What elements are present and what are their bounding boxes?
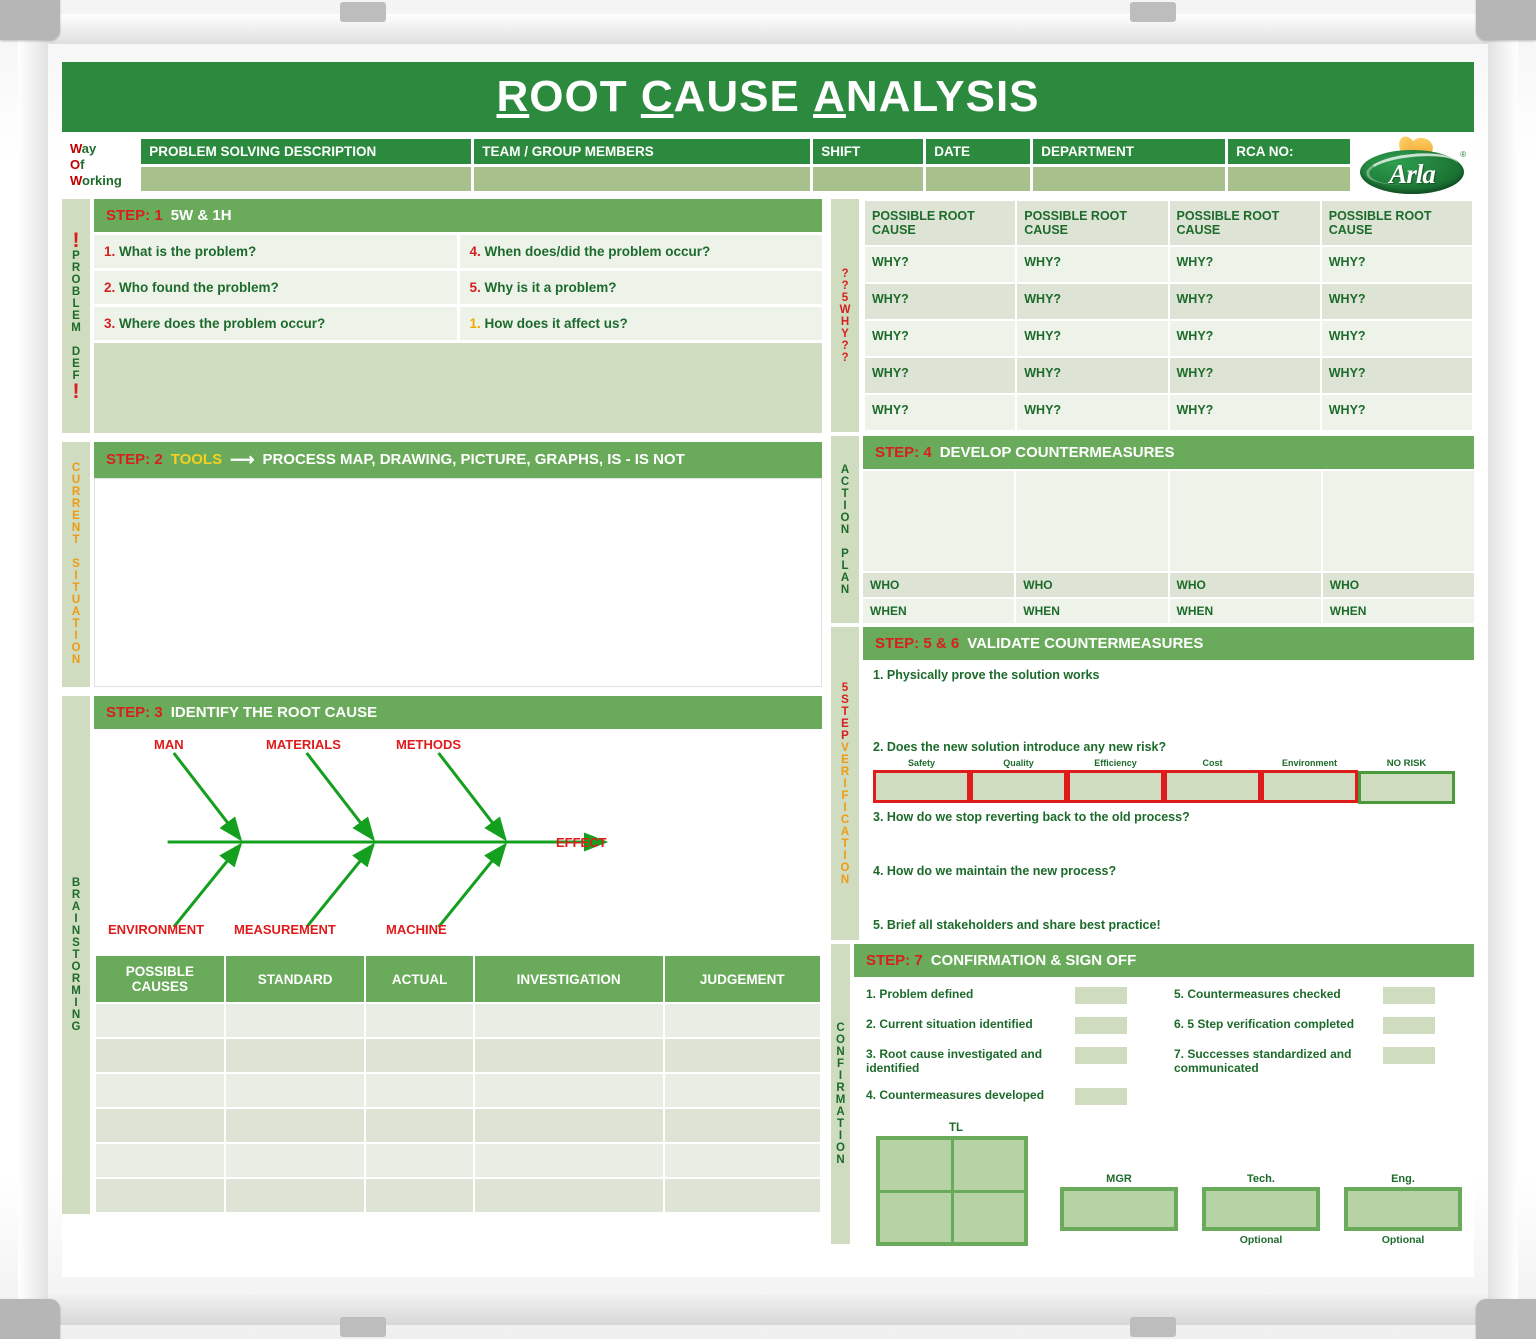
risk-option-quality[interactable]: Quality [970,758,1067,804]
checklist-item: 3. Root cause investigated and identifie… [866,1047,1154,1075]
column-header: POSSIBLECAUSES [96,956,224,1002]
tl-cell-1[interactable] [880,1140,951,1190]
column-header: INVESTIGATION [475,956,663,1002]
wow-ay: ay [82,141,96,156]
vtab-char: I [843,850,846,862]
frame-rail-left [18,14,48,1325]
table-cell[interactable] [96,1109,224,1142]
step4-title: DEVELOP COUNTERMEASURES [940,444,1175,461]
sidebar-problem-def: ! PROBLEM DEF ! [62,199,90,433]
question-cell[interactable]: 4. When does/did the problem occur? [460,235,823,268]
vtab-char: M [71,985,81,997]
table-body [96,1004,820,1212]
vtab-char: ? [841,340,848,352]
column-header: POSSIBLE ROOT CAUSE [1322,201,1472,245]
table-cell[interactable] [226,1004,365,1037]
table-cell[interactable] [226,1039,365,1072]
checklist-checkbox[interactable] [1383,1017,1435,1034]
table-cell[interactable] [475,1004,663,1037]
step3-header: STEP: 3 IDENTIFY THE ROOT CAUSE [94,696,822,729]
question-row: 2. Who found the problem?5. Why is it a … [94,271,822,304]
frame-corner-bottom-right [1476,1299,1536,1339]
vtab-char: N [72,654,80,666]
header-field-2: SHIFT [813,139,923,191]
validation-q2: 2. Does the new solution introduce any n… [873,740,1464,754]
checklist-column-left: 1. Problem defined2. Current situation i… [866,987,1154,1118]
step56-title: VALIDATE COUNTERMEASURES [967,635,1203,652]
vtab-char: E [72,310,80,322]
wow-w1: W [70,141,82,156]
tl-cell-4[interactable] [954,1193,1025,1243]
table-cell[interactable] [475,1179,663,1212]
header-field-0: PROBLEM SOLVING DESCRIPTION [141,139,471,191]
column-header: STANDARD [226,956,365,1002]
countermeasure-input[interactable] [863,471,1014,571]
why-cell[interactable]: WHY? [1322,247,1472,282]
why-cell[interactable]: WHY? [1170,321,1320,356]
risk-label: NO RISK [1358,758,1455,769]
table-row: WHY?WHY?WHY?WHY? [865,321,1472,356]
vtab-char: E [72,510,80,522]
signoff-tl-grid[interactable] [876,1136,1028,1246]
fishbone-label-man: MAN [154,737,184,752]
table-cell[interactable] [96,1004,224,1037]
vtab-char: T [841,838,848,850]
step3-body: STEP: 3 IDENTIFY THE ROOT CAUSE [94,696,822,1214]
step56-number: STEP: 5 & 6 [875,635,959,652]
risk-option-efficiency[interactable]: Efficiency [1067,758,1164,804]
signoff-box-mgr: MGRx [1060,1173,1178,1246]
step2-body: STEP: 2 TOOLS ⟶ PROCESS MAP, DRAWING, PI… [94,442,822,687]
vtab-char: ? [841,280,848,292]
step2-section: CURRENT SITUATION STEP: 2 TOOLS ⟶ PROCES… [62,442,822,687]
vtab-char: M [71,322,81,334]
table-header-row: POSSIBLE ROOT CAUSEPOSSIBLE ROOT CAUSEPO… [865,201,1472,245]
vtab-char: ? [841,268,848,280]
when-field[interactable]: WHEN [1016,599,1167,623]
vtab-char: A [841,572,849,584]
vtab-char: O [836,1034,845,1046]
checklist-label: 1. Problem defined [866,987,1071,1001]
tl-cell-2[interactable] [954,1140,1025,1190]
brand-logo: Arla ® [1350,139,1474,191]
vtab-char: A [72,606,80,618]
step1-title: 5W & 1H [171,207,232,224]
right-column: ??5WHY?? POSSIBLE ROOT CAUSEPOSSIBLE ROO… [831,199,1474,1214]
risk-checkbox-row: SafetyQualityEfficiencyCostEnvironmentNO… [873,758,1464,804]
table-cell[interactable] [96,1144,224,1177]
vtab-char: F [837,1058,844,1070]
question-cell[interactable]: 2. Who found the problem? [94,271,457,304]
table-cell[interactable] [475,1109,663,1142]
header-field-4: DEPARTMENT [1033,139,1225,191]
vtab-char: T [72,949,79,961]
countermeasure-input[interactable] [1170,471,1321,571]
sidebar-current-situation: CURRENT SITUATION [62,442,90,687]
why-cell[interactable]: WHY? [1017,284,1167,319]
step3-section: BRAINSTORMING STEP: 3 IDENTIFY THE ROOT … [62,696,822,1214]
table-cell[interactable] [366,1109,472,1142]
vtab-char: I [74,570,77,582]
why-cell[interactable]: WHY? [1322,284,1472,319]
title-letter-c: C [641,72,674,122]
vtab-char [74,334,77,346]
why-cell[interactable]: WHY? [1017,358,1167,393]
left-column: ! PROBLEM DEF ! STEP: 1 5W & 1H 1. What … [62,199,822,1214]
step4-body: STEP: 4 DEVELOP COUNTERMEASURES WHOWHENW… [863,436,1474,623]
table-cell[interactable] [665,1179,820,1212]
frame-rail-right [1488,14,1518,1325]
table-row: WHY?WHY?WHY?WHY? [865,395,1472,430]
vtab-char: B [72,286,80,298]
checklist-checkbox[interactable] [1075,987,1127,1004]
table-cell[interactable] [366,1004,472,1037]
header-field-5: RCA NO: [1228,139,1350,191]
why-cell[interactable]: WHY? [865,247,1015,282]
risk-label: Quality [970,758,1067,768]
risk-option-environment[interactable]: Environment [1261,758,1358,804]
header-field-label: TEAM / GROUP MEMBERS [474,139,810,164]
header-field-input[interactable] [1228,167,1350,191]
question-cell[interactable]: 1. What is the problem? [94,235,457,268]
fishbone-label-environment: ENVIRONMENT [108,922,204,937]
table-cell[interactable] [96,1074,224,1107]
question-row: 3. Where does the problem occur?1. How d… [94,307,822,340]
table-cell[interactable] [96,1039,224,1072]
when-field[interactable]: WHEN [1170,599,1321,623]
why-cell[interactable]: WHY? [1017,247,1167,282]
checklist-checkbox[interactable] [1383,987,1435,1004]
why-cell[interactable]: WHY? [1170,395,1320,430]
when-field[interactable]: WHEN [863,599,1014,623]
table-row [96,1074,820,1107]
risk-checkbox[interactable] [873,770,970,803]
validation-questions: 1. Physically prove the solution works 2… [863,660,1474,940]
table-cell[interactable] [96,1179,224,1212]
vtab-char: I [839,1130,842,1142]
step2-drawing-canvas[interactable] [94,478,822,687]
header-field-label: DEPARTMENT [1033,139,1225,164]
question-number: 3. [104,316,119,331]
checklist-checkbox[interactable] [1075,1047,1127,1064]
table-cell[interactable] [226,1074,365,1107]
header-field-input[interactable] [474,167,810,191]
question-cell[interactable]: 5. Why is it a problem? [460,271,823,304]
risk-checkbox[interactable] [1164,770,1261,803]
countermeasure-input[interactable] [1323,471,1474,571]
title-rest-3: NALYSIS [846,72,1040,122]
signature-field[interactable] [1060,1187,1178,1231]
signoff-optional-note: Optional [1202,1234,1320,1246]
signoff-label: Tech. [1202,1173,1320,1185]
table-cell[interactable] [475,1144,663,1177]
title-letter-r: R [496,72,529,122]
sidebar-five-step-verification: 5STEPVERIFICATION [831,627,859,940]
signoff-boxes: MGRxTech.OptionalEng.Optional [1036,1173,1462,1246]
question-text: Where does the problem occur? [119,316,325,331]
table-row: WHY?WHY?WHY?WHY? [865,284,1472,319]
table-row: WHY?WHY?WHY?WHY? [865,247,1472,282]
question-cell[interactable]: 1. How does it affect us? [460,307,823,340]
table-cell[interactable] [665,1074,820,1107]
vtab-char: A [72,901,80,913]
vtab-char: O [72,274,81,286]
tl-cell-3[interactable] [880,1193,951,1243]
table-cell[interactable] [665,1039,820,1072]
vtab-char: O [836,1142,845,1154]
page-title: ROOT CAUSE ANALYSIS [62,62,1474,132]
signature-field[interactable] [1202,1187,1320,1231]
vtab-char: W [840,304,851,316]
why-cell[interactable]: WHY? [1170,284,1320,319]
when-field[interactable]: WHEN [1323,599,1474,623]
question-cell[interactable]: 3. Where does the problem occur? [94,307,457,340]
step1-section: ! PROBLEM DEF ! STEP: 1 5W & 1H 1. What … [62,199,822,433]
why-cell[interactable]: WHY? [865,358,1015,393]
vtab-char: S [72,558,80,570]
five-why-section: ??5WHY?? POSSIBLE ROOT CAUSEPOSSIBLE ROO… [831,199,1474,432]
possible-causes-table: POSSIBLECAUSESSTANDARDACTUALINVESTIGATIO… [94,954,822,1214]
vtab-char: H [841,316,849,328]
risk-checkbox[interactable] [1067,770,1164,803]
vtab-char: P [841,548,849,560]
step2-header: STEP: 2 TOOLS ⟶ PROCESS MAP, DRAWING, PI… [94,442,822,478]
wow-f: f [80,157,84,172]
vtab-char: R [72,486,80,498]
rca-sheet: ROOT CAUSE ANALYSIS Way Of Working PROBL… [62,62,1474,1277]
vtab-char: N [72,925,80,937]
step2-title: PROCESS MAP, DRAWING, PICTURE, GRAPHS, I… [262,451,684,468]
vtab-char: L [841,560,848,572]
vtab-char: N [841,524,849,536]
vtab-char: E [841,754,849,766]
action-plan-column: WHOWHEN [863,471,1014,623]
why-cell[interactable]: WHY? [865,284,1015,319]
why-cell[interactable]: WHY? [1017,395,1167,430]
checklist-label: 5. Countermeasures checked [1174,987,1379,1001]
fishbone-label-measurement: MEASUREMENT [234,922,336,937]
vtab-char: T [72,618,79,630]
arrow-right-icon: ⟶ [230,450,254,470]
vtab-char: N [841,874,849,886]
table-cell[interactable] [665,1144,820,1177]
signoff-label: MGR [1060,1173,1178,1185]
who-field[interactable]: WHO [863,573,1014,597]
vtab-char: O [72,642,81,654]
exclamation-icon-bottom: ! [73,383,80,400]
main-content: ! PROBLEM DEF ! STEP: 1 5W & 1H 1. What … [62,199,1474,1214]
sidebar-brainstorming: BRAINSTORMING [62,696,90,1214]
title-rest-1: OOT [529,72,627,122]
vtab-char: V [841,742,849,754]
header-field-input[interactable] [1033,167,1225,191]
vtab-char: I [843,802,846,814]
table-cell[interactable] [366,1144,472,1177]
header-field-input[interactable] [141,167,471,191]
checklist-item: 1. Problem defined [866,987,1154,1004]
why-cell[interactable]: WHY? [865,321,1015,356]
vtab-char: I [843,500,846,512]
table-row [96,1144,820,1177]
signature-field[interactable] [1344,1187,1462,1231]
signoff-row: TL MGRxTech.OptionalEng.Optional [866,1118,1462,1246]
risk-checkbox[interactable] [970,770,1067,803]
vtab-char: D [72,346,80,358]
title-rest-2: AUSE [674,72,800,122]
vtab-char: C [836,1022,844,1034]
question-text: When does/did the problem occur? [485,244,711,259]
vtab-char: P [72,250,80,262]
risk-option-no-risk[interactable]: NO RISK [1358,758,1455,804]
vtab-char: T [841,488,848,500]
vtab-char: O [72,961,81,973]
why-cell[interactable]: WHY? [1170,247,1320,282]
why-cell[interactable]: WHY? [1017,321,1167,356]
checklist-label: 3. Root cause investigated and identifie… [866,1047,1071,1075]
vtab-char: R [72,973,80,985]
step1-notes-area[interactable] [94,343,822,433]
vtab-char: T [72,534,79,546]
frame-corner-top-left [0,0,60,40]
checklist-column-right: 5. Countermeasures checked6. 5 Step veri… [1174,987,1462,1118]
step7-section: CONFIRMATION STEP: 7 CONFIRMATION & SIGN… [831,944,1474,1244]
header-field-label: RCA NO: [1228,139,1350,164]
column-header: POSSIBLE ROOT CAUSE [865,201,1015,245]
table-row [96,1039,820,1072]
vtab-char: I [843,778,846,790]
question-text: What is the problem? [119,244,256,259]
vtab-char: U [72,474,80,486]
header-field-input[interactable] [813,167,923,191]
vtab-char: I [74,997,77,1009]
step4-header: STEP: 4 DEVELOP COUNTERMEASURES [863,436,1474,469]
vtab-char: ? [841,352,848,364]
vtab-char: T [72,582,79,594]
step2-number: STEP: 2 [106,451,163,468]
why-cell[interactable]: WHY? [1322,321,1472,356]
table-cell[interactable] [226,1144,365,1177]
validation-q3: 3. How do we stop reverting back to the … [873,810,1464,824]
step2-tools-label: TOOLS [171,451,222,468]
risk-option-cost[interactable]: Cost [1164,758,1261,804]
question-number: 5. [470,280,485,295]
table-cell[interactable] [226,1179,365,1212]
vtab-char: F [841,790,848,802]
table-cell[interactable] [665,1109,820,1142]
who-field[interactable]: WHO [1323,573,1474,597]
table-cell[interactable] [226,1109,365,1142]
signoff-tl: TL [876,1122,1036,1246]
risk-option-safety[interactable]: Safety [873,758,970,804]
why-cell[interactable]: WHY? [1322,395,1472,430]
frame-bracket-top-left [340,2,386,22]
table-cell[interactable] [665,1004,820,1037]
sidebar-five-why: ??5WHY?? [831,199,859,432]
risk-label: Safety [873,758,970,768]
why-cell[interactable]: WHY? [1170,358,1320,393]
risk-checkbox[interactable] [1261,770,1358,803]
column-header: ACTUAL [366,956,472,1002]
vtab-char: I [74,913,77,925]
arla-logo-icon: Arla ® [1356,136,1468,194]
header-field-label: DATE [926,139,1030,164]
sidebar-action-plan: ACTION PLAN [831,436,859,623]
who-field[interactable]: WHO [1170,573,1321,597]
vtab-char: E [72,358,80,370]
vtab-char: T [841,706,848,718]
column-header: JUDGEMENT [665,956,820,1002]
table-cell[interactable] [366,1179,472,1212]
checklist-item: 5. Countermeasures checked [1174,987,1462,1004]
who-field[interactable]: WHO [1016,573,1167,597]
header-field-label: PROBLEM SOLVING DESCRIPTION [141,139,471,164]
checklist-label: 2. Current situation identified [866,1017,1071,1031]
table-cell[interactable] [366,1039,472,1072]
logo-registered-mark: ® [1460,150,1466,159]
checklist-checkbox[interactable] [1383,1047,1435,1064]
table-row [96,1179,820,1212]
header-field-label: SHIFT [813,139,923,164]
vtab-char: G [72,1021,81,1033]
vtab-char: N [72,1009,80,1021]
table-cell[interactable] [475,1039,663,1072]
validation-q5: 5. Brief all stakeholders and share best… [873,918,1464,932]
vtab-char: B [72,877,80,889]
frame-bracket-top-right [1130,2,1176,22]
risk-checkbox[interactable] [1358,771,1455,804]
step56-section: 5STEPVERIFICATION STEP: 5 & 6 VALIDATE C… [831,627,1474,940]
step1-number: STEP: 1 [106,207,163,224]
why-cell[interactable]: WHY? [1322,358,1472,393]
checklist-checkbox[interactable] [1075,1088,1127,1105]
vtab-char [843,536,846,548]
vtab-char: A [841,826,849,838]
step1-header: STEP: 1 5W & 1H [94,199,822,232]
question-number: 1. [470,316,485,331]
header-field-1: TEAM / GROUP MEMBERS [474,139,810,191]
step7-number: STEP: 7 [866,952,923,969]
signoff-label: Eng. [1344,1173,1462,1185]
step7-body: STEP: 7 CONFIRMATION & SIGN OFF 1. Probl… [854,944,1474,1244]
header-field-input[interactable] [926,167,1030,191]
signoff-optional-note: Optional [1344,1234,1462,1246]
vtab-char: O [841,512,850,524]
vtab-char: Y [841,328,849,340]
wow-orking: orking [82,173,122,188]
vtab-char: R [72,262,80,274]
table-body: WHY?WHY?WHY?WHY?WHY?WHY?WHY?WHY?WHY?WHY?… [865,247,1472,430]
vtab-char: M [836,1094,846,1106]
step3-title: IDENTIFY THE ROOT CAUSE [171,704,377,721]
vtab-char: C [841,814,849,826]
action-plan-grid: WHOWHENWHOWHENWHOWHENWHOWHEN [863,471,1474,623]
vtab-char: 5 [842,292,848,304]
countermeasure-input[interactable] [1016,471,1167,571]
question-text: Why is it a problem? [485,280,617,295]
table-cell[interactable] [366,1074,472,1107]
step4-number: STEP: 4 [875,444,932,461]
checklist-label: 7. Successes standardized and communicat… [1174,1047,1379,1075]
frame-corner-bottom-left [0,1299,60,1339]
table-cell[interactable] [475,1074,663,1107]
action-plan-column: WHOWHEN [1170,471,1321,623]
checklist-checkbox[interactable] [1075,1017,1127,1034]
fishbone-diagram: MAN MATERIALS METHODS ENVIRONMENT MEASUR… [94,729,822,954]
why-cell[interactable]: WHY? [865,395,1015,430]
column-header: POSSIBLE ROOT CAUSE [1017,201,1167,245]
vtab-char: L [72,298,79,310]
checklist-item: 7. Successes standardized and communicat… [1174,1047,1462,1075]
